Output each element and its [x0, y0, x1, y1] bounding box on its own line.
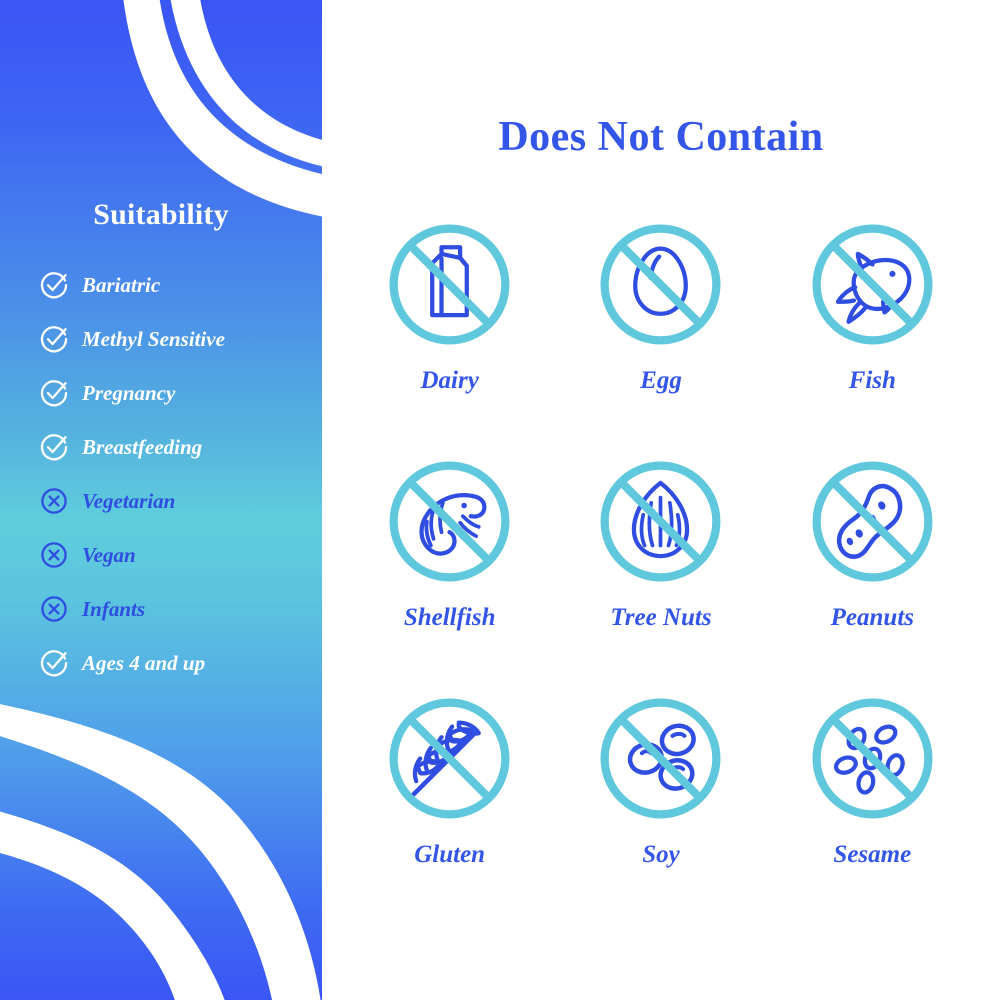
prohibition-ring-icon — [605, 703, 717, 815]
allergen-label: Tree Nuts — [610, 605, 711, 630]
no-gluten-badge — [383, 692, 516, 825]
suitability-item-breastfeeding: Breastfeeding — [40, 420, 322, 474]
allergen-cell-soy: Soy — [555, 692, 766, 929]
allergen-label: Fish — [849, 368, 896, 393]
allergen-label: Soy — [642, 842, 680, 867]
x-circle-icon — [40, 595, 68, 623]
no-dairy-badge — [383, 218, 516, 351]
suitability-item-label: Infants — [82, 599, 145, 620]
suitability-item-label: Ages 4 and up — [82, 653, 205, 674]
allergen-cell-dairy: Dairy — [344, 218, 555, 455]
check-circle-icon — [40, 433, 68, 461]
check-circle-icon — [40, 325, 68, 353]
allergen-label: Egg — [640, 368, 682, 393]
allergen-cell-peanuts: Peanuts — [767, 455, 978, 692]
x-circle-icon — [40, 487, 68, 515]
allergen-label: Sesame — [833, 842, 911, 867]
suitability-item-label: Methyl Sensitive — [82, 329, 225, 350]
prohibition-ring-icon — [816, 703, 928, 815]
allergen-label: Shellfish — [404, 605, 496, 630]
allergen-label: Gluten — [414, 842, 485, 867]
no-sesame-badge — [806, 692, 939, 825]
prohibition-ring-icon — [816, 466, 928, 578]
prohibition-ring-icon — [605, 229, 717, 341]
no-tree-nuts-badge — [594, 455, 727, 588]
suitability-panel: Suitability Bariatric Methyl — [0, 0, 322, 1000]
allergen-cell-fish: Fish — [767, 218, 978, 455]
allergen-cell-gluten: Gluten — [344, 692, 555, 929]
allergen-label: Dairy — [421, 368, 479, 393]
page-title: Does Not Contain — [322, 113, 1000, 161]
suitability-item-vegetarian: Vegetarian — [40, 474, 322, 528]
allergen-cell-shellfish: Shellfish — [344, 455, 555, 692]
suitability-item-label: Vegan — [82, 545, 136, 566]
x-circle-icon — [40, 541, 68, 569]
suitability-item-methyl-sensitive: Methyl Sensitive — [40, 312, 322, 366]
allergen-cell-egg: Egg — [555, 218, 766, 455]
allergen-cell-sesame: Sesame — [767, 692, 978, 929]
no-peanuts-badge — [806, 455, 939, 588]
infographic-page: Suitability Bariatric Methyl — [0, 0, 1000, 1000]
suitability-item-bariatric: Bariatric — [40, 258, 322, 312]
suitability-item-vegan: Vegan — [40, 528, 322, 582]
check-circle-icon — [40, 271, 68, 299]
check-circle-icon — [40, 379, 68, 407]
suitability-item-label: Bariatric — [82, 275, 160, 296]
suitability-item-label: Vegetarian — [82, 491, 175, 512]
suitability-item-ages-4-and-up: Ages 4 and up — [40, 636, 322, 690]
suitability-item-infants: Infants — [40, 582, 322, 636]
suitability-title: Suitability — [0, 198, 322, 232]
suitability-list: Bariatric Methyl Sensitive P — [40, 258, 322, 690]
check-circle-icon — [40, 649, 68, 677]
allergen-grid: Dairy Egg — [344, 218, 978, 929]
prohibition-ring-icon — [394, 466, 506, 578]
prohibition-ring-icon — [394, 703, 506, 815]
no-egg-badge — [594, 218, 727, 351]
allergen-label: Peanuts — [831, 605, 914, 630]
no-fish-badge — [806, 218, 939, 351]
suitability-item-label: Pregnancy — [82, 383, 175, 404]
no-shellfish-badge — [383, 455, 516, 588]
suitability-item-pregnancy: Pregnancy — [40, 366, 322, 420]
suitability-item-label: Breastfeeding — [82, 437, 202, 458]
prohibition-ring-icon — [816, 229, 928, 341]
no-soy-badge — [594, 692, 727, 825]
allergen-cell-tree-nuts: Tree Nuts — [555, 455, 766, 692]
does-not-contain-panel: Does Not Contain Dairy — [322, 0, 1000, 1000]
